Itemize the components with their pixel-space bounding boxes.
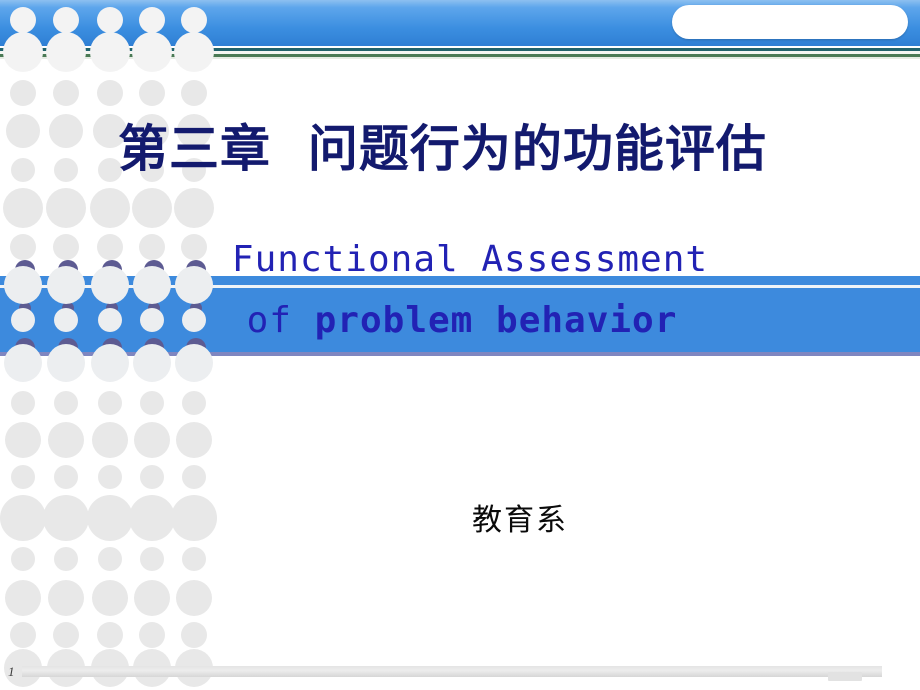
- accent-band-dot: [4, 344, 42, 382]
- decorative-dot: [54, 547, 78, 571]
- decorative-dot: [11, 547, 35, 571]
- decorative-dot: [6, 114, 40, 148]
- header-dot: [3, 32, 43, 72]
- header-dot: [10, 7, 36, 33]
- decorative-dot: [181, 622, 207, 648]
- header-dot: [139, 7, 165, 33]
- decorative-dot: [5, 422, 41, 458]
- department-label: 教育系: [0, 495, 920, 539]
- page-title: 第三章 问题行为的功能评估: [118, 109, 878, 181]
- header-dot: [53, 7, 79, 33]
- header-dot: [46, 32, 86, 72]
- decorative-dot: [182, 547, 206, 571]
- decorative-dot: [92, 580, 128, 616]
- subtitle-line-2-main: problem behavior: [315, 300, 678, 341]
- decorative-dot: [46, 188, 86, 228]
- accent-band-dot: [47, 344, 85, 382]
- decorative-dot: [139, 622, 165, 648]
- decorative-dot: [134, 422, 170, 458]
- decorative-dot: [10, 622, 36, 648]
- header-dot: [97, 7, 123, 33]
- decorative-dot: [11, 158, 35, 182]
- decorative-dot: [139, 80, 165, 106]
- accent-band-dot: [175, 344, 213, 382]
- decorative-dot: [11, 465, 35, 489]
- decorative-dot: [10, 80, 36, 106]
- decorative-dot: [90, 188, 130, 228]
- header-dot: [90, 32, 130, 72]
- decorative-dot: [98, 465, 122, 489]
- page-number: 1: [8, 664, 15, 680]
- subtitle-line-2-prefix: of: [247, 300, 315, 341]
- decorative-dot: [49, 114, 83, 148]
- footer-bar: [22, 666, 882, 677]
- decorative-dot: [140, 547, 164, 571]
- decorative-dot: [54, 391, 78, 415]
- decorative-dot: [182, 465, 206, 489]
- decorative-dot: [54, 465, 78, 489]
- decorative-dot: [97, 80, 123, 106]
- header-dot: [174, 32, 214, 72]
- decorative-dot: [98, 391, 122, 415]
- accent-band-dot: [133, 344, 171, 382]
- subtitle-line-1: Functional Assessment: [0, 239, 920, 280]
- header-dot: [132, 32, 172, 72]
- accent-band-dot: [91, 344, 129, 382]
- decorative-dot: [5, 580, 41, 616]
- decorative-dot: [174, 188, 214, 228]
- decorative-dot: [182, 391, 206, 415]
- presentation-slide: 第三章 问题行为的功能评估 Functional Assessment of p…: [0, 0, 920, 690]
- decorative-dot: [48, 422, 84, 458]
- decorative-dot: [132, 188, 172, 228]
- decorative-dot: [48, 580, 84, 616]
- header-placeholder-box[interactable]: [672, 5, 908, 39]
- decorative-dot: [140, 391, 164, 415]
- footer-mark: [828, 672, 862, 681]
- decorative-dot: [53, 80, 79, 106]
- decorative-dot: [176, 422, 212, 458]
- decorative-dot: [53, 622, 79, 648]
- decorative-dot: [97, 622, 123, 648]
- decorative-dot: [176, 580, 212, 616]
- decorative-dot: [54, 158, 78, 182]
- decorative-dot: [3, 188, 43, 228]
- header-dot: [181, 7, 207, 33]
- decorative-dot: [134, 580, 170, 616]
- decorative-dot: [140, 465, 164, 489]
- subtitle-line-2: of problem behavior: [0, 300, 920, 341]
- decorative-dot: [98, 547, 122, 571]
- decorative-dot: [11, 391, 35, 415]
- header-swoosh-icon: [246, 0, 557, 46]
- decorative-dot: [181, 80, 207, 106]
- decorative-dot: [92, 422, 128, 458]
